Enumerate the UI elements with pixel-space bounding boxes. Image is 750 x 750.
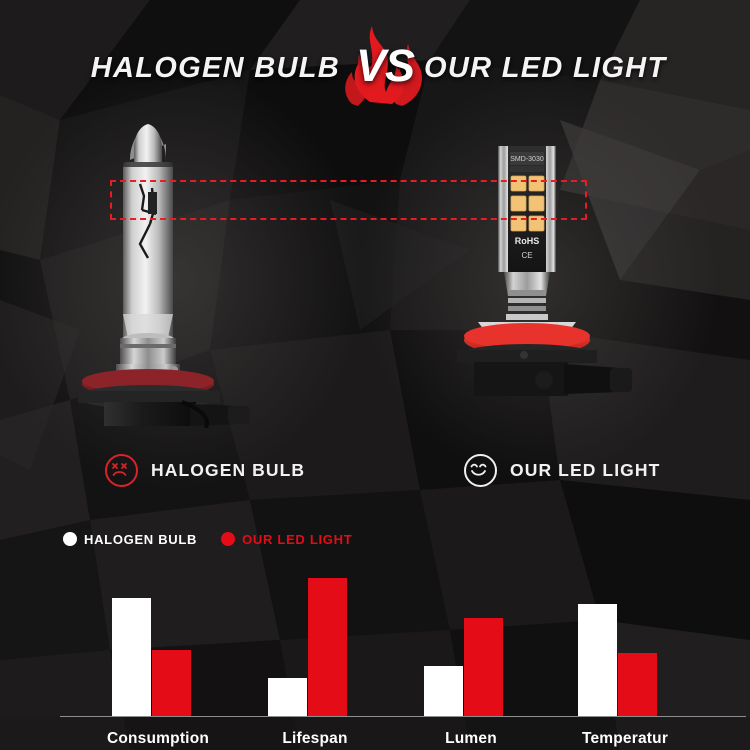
svg-text:SMD-3030: SMD-3030 (510, 156, 544, 163)
header: HALOGEN BULB VS OUR LED LIGHT (0, 38, 750, 98)
chart-baseline-axis (60, 716, 746, 717)
bar-halogen-temperatur (578, 604, 617, 716)
svg-text:CE: CE (521, 251, 532, 260)
xaxis-label-temperatur: Temperatur (533, 730, 717, 748)
comparison-highlight-box (110, 180, 587, 220)
halogen-caption-label: HALOGEN BULB (151, 460, 305, 481)
svg-text:RoHS: RoHS (515, 236, 540, 246)
header-left-title: HALOGEN BULB (91, 38, 340, 98)
happy-face-icon (464, 454, 497, 487)
sad-face-icon (105, 454, 138, 487)
bar-halogen-lumen (424, 666, 463, 716)
legend-label-led: OUR LED LIGHT (242, 532, 352, 547)
legend-dot-halogen (63, 532, 77, 546)
halogen-bulb-photo (78, 118, 298, 428)
bar-led-lifespan (308, 578, 347, 716)
led-caption-row: OUR LED LIGHT (464, 450, 660, 490)
bar-halogen-lifespan (268, 678, 307, 716)
bar-led-lumen (464, 618, 503, 716)
chart-legend: HALOGEN BULB OUR LED LIGHT (63, 528, 352, 550)
bar-halogen-consumption (112, 598, 151, 716)
led-caption-label: OUR LED LIGHT (510, 460, 660, 481)
legend-dot-led (221, 532, 235, 546)
comparison-bar-chart: Consumption Lifespan Lumen Temperatur (0, 555, 750, 750)
halogen-caption-row: HALOGEN BULB (105, 450, 305, 490)
header-right-title: OUR LED LIGHT (424, 38, 666, 98)
bar-led-temperatur (618, 653, 657, 716)
bar-led-consumption (152, 650, 191, 716)
legend-label-halogen: HALOGEN BULB (84, 532, 197, 547)
infographic-page: HALOGEN BULB VS OUR LED LIGHT (0, 0, 750, 750)
